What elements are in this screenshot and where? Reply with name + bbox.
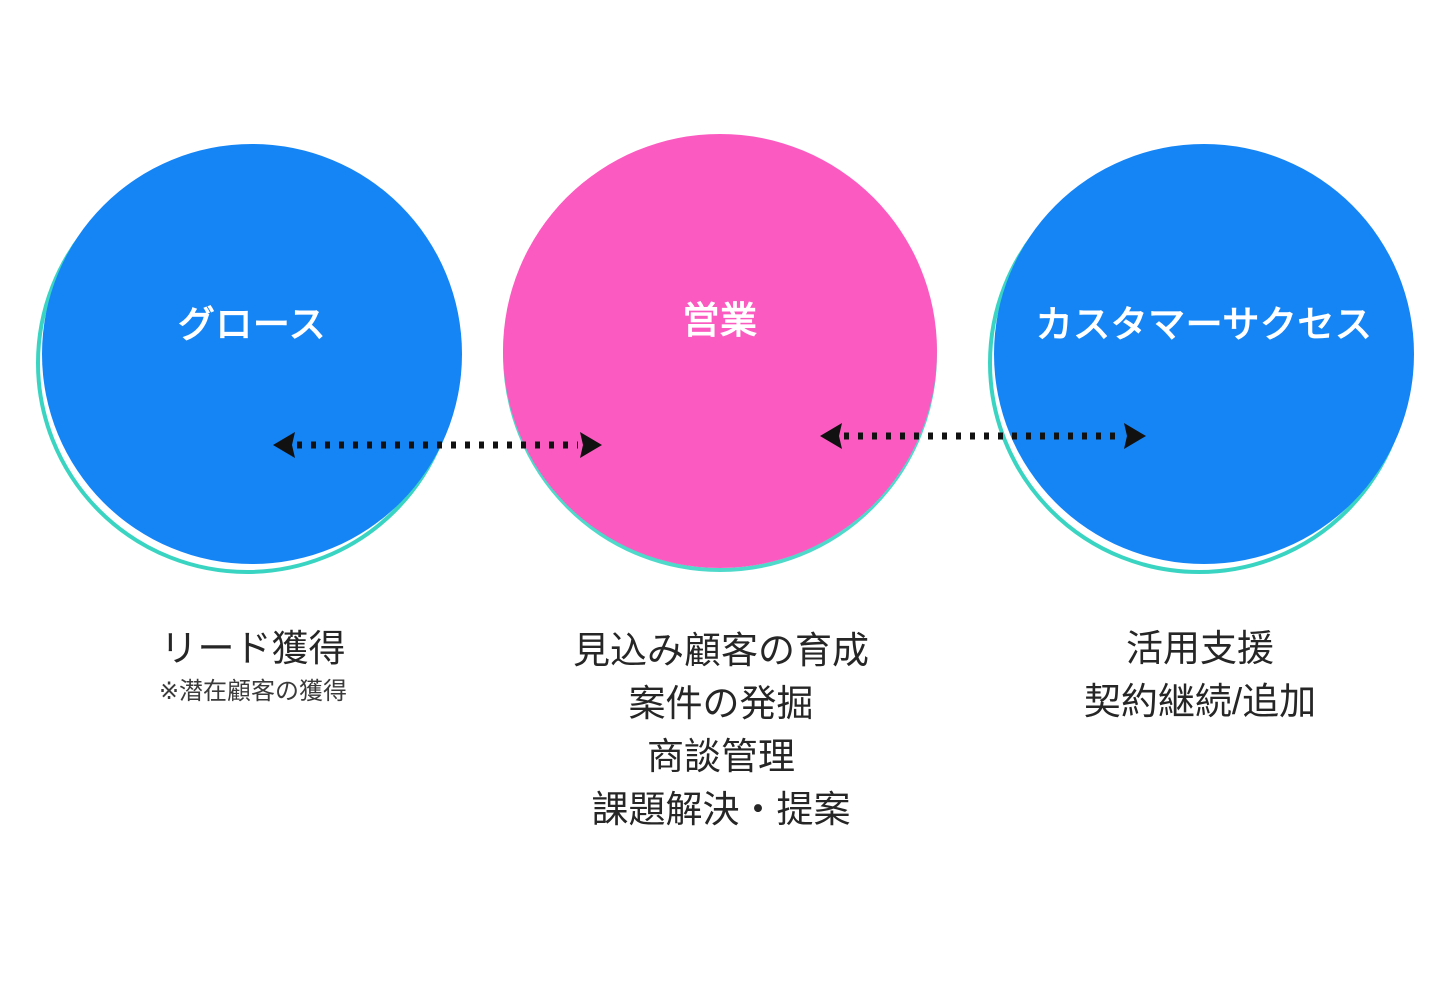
caption-line: 案件の発掘 — [506, 677, 936, 730]
caption-line: 見込み顧客の育成 — [506, 624, 936, 677]
diagram-canvas: グロース 営業 カスタマーサクセス — [0, 0, 1440, 993]
caption-line: 課題解決・提案 — [506, 783, 936, 836]
node-growth[interactable]: グロース — [36, 144, 466, 574]
node-customer-success-disc: カスタマーサクセス — [994, 144, 1414, 564]
node-stage: グロース 営業 カスタマーサクセス — [0, 0, 1440, 600]
connector-growth-sales-head-left — [273, 432, 295, 458]
node-sales-label: 営業 — [683, 302, 758, 339]
caption-line: リード獲得 — [48, 622, 458, 675]
caption-group-sales: 見込み顧客の育成 案件の発掘 商談管理 課題解決・提案 — [506, 624, 936, 836]
caption-line: 活用支援 — [990, 622, 1410, 675]
connector-sales-customer-success — [814, 415, 1154, 457]
connector-sales-customer-success-head-left — [820, 423, 842, 449]
caption-line: 契約継続/追加 — [990, 675, 1410, 728]
node-growth-label: グロース — [178, 306, 326, 343]
node-customer-success[interactable]: カスタマーサクセス — [988, 144, 1418, 574]
connector-growth-sales — [265, 424, 610, 466]
node-sales-disc: 営業 — [503, 134, 937, 568]
caption-stage: リード獲得 ※潜在顧客の獲得 見込み顧客の育成 案件の発掘 商談管理 課題解決・… — [0, 612, 1440, 912]
caption-line: 商談管理 — [506, 730, 936, 783]
node-customer-success-label: カスタマーサクセス — [1036, 306, 1373, 343]
node-sales[interactable]: 営業 — [500, 132, 940, 572]
caption-group-growth: リード獲得 ※潜在顧客の獲得 — [48, 622, 458, 709]
node-growth-disc: グロース — [42, 144, 462, 564]
connector-sales-customer-success-head-right — [1124, 423, 1146, 449]
caption-group-customer-success: 活用支援 契約継続/追加 — [990, 622, 1410, 728]
caption-note-growth: ※潜在顧客の獲得 — [48, 675, 458, 709]
connector-growth-sales-head-right — [580, 432, 602, 458]
